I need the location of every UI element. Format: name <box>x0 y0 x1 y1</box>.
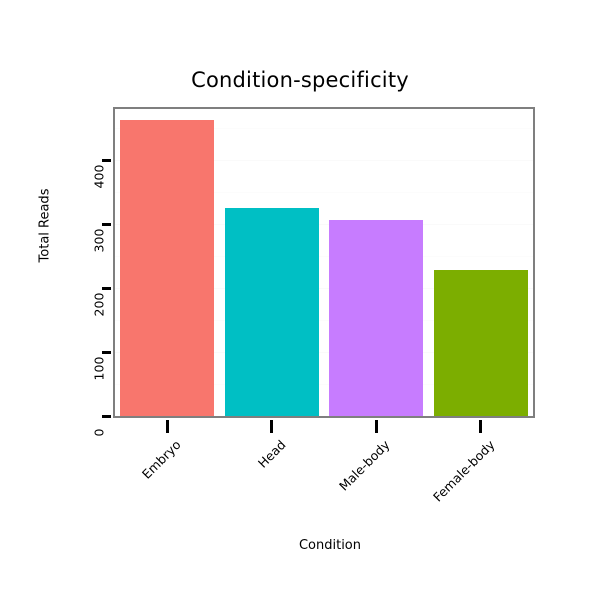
bar-male-body[interactable] <box>329 220 423 416</box>
x-tick-label: Male-body <box>297 437 392 532</box>
chart-canvas: Condition-specificity Total Reads 010020… <box>0 0 600 600</box>
x-tick-mark <box>166 420 169 433</box>
bar-female-body[interactable] <box>434 270 528 416</box>
x-tick-mark <box>479 420 482 433</box>
y-tick-label: 400 <box>92 160 107 194</box>
x-axis-title: Condition <box>110 538 550 553</box>
x-tick-label: Female-body <box>402 437 497 532</box>
y-tick-label: 0 <box>92 416 107 450</box>
plot-panel <box>113 107 535 418</box>
x-tick-mark <box>375 420 378 433</box>
bar-head[interactable] <box>225 208 319 417</box>
x-tick-label: Embryo <box>88 437 183 532</box>
y-axis-title: Total Reads <box>38 146 53 306</box>
gridline-major <box>115 416 533 417</box>
y-tick-label: 100 <box>92 352 107 386</box>
bar-embryo[interactable] <box>120 120 214 416</box>
y-tick-label: 300 <box>92 224 107 258</box>
x-tick-mark <box>270 420 273 433</box>
x-tick-label: Head <box>193 437 288 532</box>
y-tick-label: 200 <box>92 288 107 322</box>
chart-title: Condition-specificity <box>0 68 600 92</box>
